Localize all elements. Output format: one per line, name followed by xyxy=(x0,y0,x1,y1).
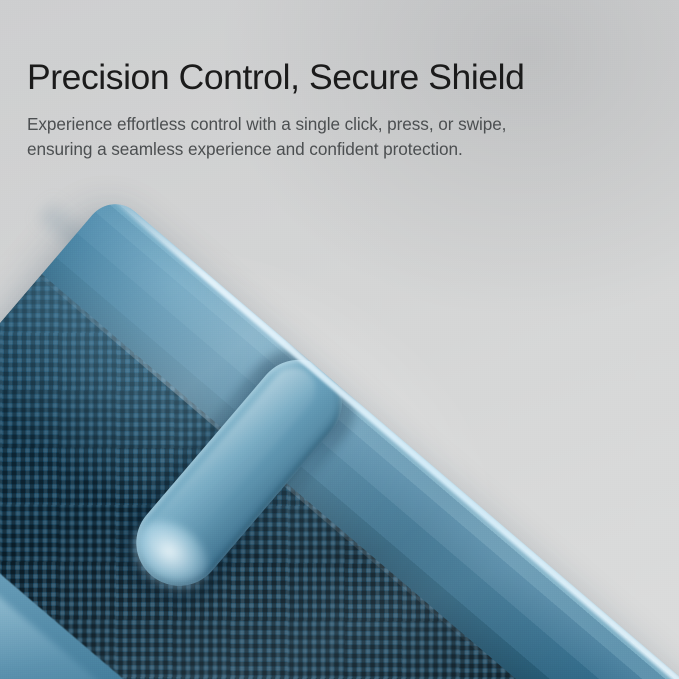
page-title: Precision Control, Secure Shield xyxy=(27,55,627,99)
subtitle-line-2: ensuring a seamless experience and confi… xyxy=(27,137,627,162)
case-body xyxy=(0,192,679,679)
subtitle: Experience effortless control with a sin… xyxy=(27,112,627,162)
subtitle-line-1: Experience effortless control with a sin… xyxy=(27,112,627,137)
product-marketing-image: Precision Control, Secure Shield Experie… xyxy=(0,0,679,679)
marketing-copy-block: Precision Control, Secure Shield Experie… xyxy=(27,55,627,162)
